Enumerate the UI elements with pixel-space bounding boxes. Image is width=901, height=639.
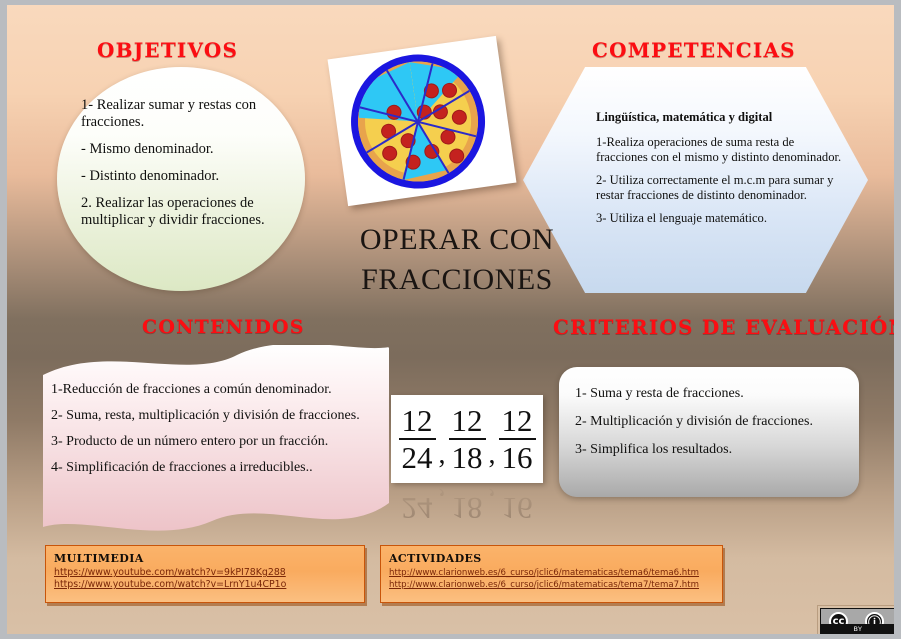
contenidos-line-2: 2- Suma, resta, multiplicación y divisió… (51, 407, 381, 424)
contenidos-line-4: 4- Simplificación de fracciones a irredu… (51, 459, 381, 476)
contenidos-text-body: 1-Reducción de fracciones a común denomi… (51, 381, 381, 485)
criterios-line-3: 3- Simplifica los resultados. (575, 441, 847, 458)
fractions-image-reflection: 12 24 , 12 18 , 12 16 (391, 483, 543, 525)
multimedia-title: MULTIMEDIA (54, 552, 356, 565)
criterios-box-panel: 1- Suma y resta de fracciones. 2- Multip… (559, 367, 859, 497)
actividades-link-2[interactable]: http://www.clarionweb.es/6_curso/jclic6/… (389, 579, 714, 591)
actividades-box: ACTIVIDADES http://www.clarionweb.es/6_c… (380, 545, 723, 603)
objetivos-line-1: 1- Realizar sumar y restas con fraccione… (81, 97, 267, 131)
fraction-separator: , (486, 439, 499, 473)
fraction-separator: , (436, 439, 449, 473)
contenidos-wave-panel: 1-Reducción de fracciones a común denomi… (37, 345, 392, 532)
fraction-3: 12 16 (499, 405, 536, 473)
contenidos-line-1: 1-Reducción de fracciones a común denomi… (51, 381, 381, 398)
fractions-row: 12 24 , 12 18 , 12 16 (399, 405, 536, 473)
cc-badge-inner: cc ⓘ BY (820, 608, 896, 634)
fraction-1-numerator: 12 (399, 405, 436, 436)
reflection-1-den: 24 (399, 493, 436, 525)
main-title-line-1: OPERAR CON (337, 220, 577, 260)
objetivos-line-3: - Distinto denominador. (81, 168, 267, 185)
fraction-1-denominator: 24 (399, 438, 436, 473)
fractions-image: 12 24 , 12 18 , 12 16 (391, 395, 543, 483)
pizza-inner (350, 54, 486, 190)
pizza-icon (342, 46, 493, 197)
heading-contenidos: CONTENIDOS (142, 316, 305, 338)
reflection-2-den: 18 (449, 493, 486, 525)
fraction-1: 12 24 (399, 405, 436, 473)
cc-by-label: BY (821, 624, 895, 633)
heading-objetivos: OBJETIVOS (97, 38, 238, 62)
actividades-link-1[interactable]: http://www.clarionweb.es/6_curso/jclic6/… (389, 567, 714, 579)
heading-criterios-evaluacion: CRITERIOS DE EVALUACIÓN (553, 315, 901, 339)
heading-competencias: COMPETENCIAS (592, 38, 796, 62)
objetivos-text-body: 1- Realizar sumar y restas con fraccione… (81, 97, 267, 239)
fraction-2-numerator: 12 (449, 405, 486, 436)
main-title-line-2: FRACCIONES (337, 260, 577, 300)
objetivos-circle-panel: 1- Realizar sumar y restas con fraccione… (57, 67, 305, 291)
criterios-line-1: 1- Suma y resta de fracciones. (575, 385, 847, 402)
reflection-fraction-1: 12 24 (399, 493, 436, 525)
competencias-text-body: Lingüística, matemática y digital 1-Real… (596, 110, 846, 234)
multimedia-box: MULTIMEDIA https://www.youtube.com/watch… (45, 545, 365, 603)
criterios-line-2: 2- Multiplicación y división de fraccion… (575, 413, 847, 430)
fraction-2-denominator: 18 (449, 438, 486, 473)
creative-commons-badge[interactable]: cc ⓘ BY (817, 605, 899, 637)
contenidos-line-3: 3- Producto de un número entero por un f… (51, 433, 381, 450)
fraction-3-numerator: 12 (499, 405, 536, 436)
competencias-line-3: 3- Utiliza el lenguaje matemático. (596, 211, 846, 226)
multimedia-link-2[interactable]: https://www.youtube.com/watch?v=LrnY1u4C… (54, 579, 356, 591)
competencias-line-1: 1-Realiza operaciones de suma resta de f… (596, 135, 846, 165)
reflection-separator: , (486, 483, 499, 517)
reflection-fraction-2: 12 18 (449, 493, 486, 525)
objetivos-line-4: 2. Realizar las operaciones de multiplic… (81, 195, 267, 229)
pizza-image-card (328, 36, 517, 206)
multimedia-link-1[interactable]: https://www.youtube.com/watch?v=9kPI78Kg… (54, 567, 356, 579)
objetivos-line-2: - Mismo denominador. (81, 141, 267, 158)
criterios-text-body: 1- Suma y resta de fracciones. 2- Multip… (575, 385, 847, 469)
infographic-slide: OBJETIVOS 1- Realizar sumar y restas con… (0, 0, 901, 639)
fractions-reflection-inner: 12 24 , 12 18 , 12 16 (391, 483, 543, 525)
main-title: OPERAR CON FRACCIONES (337, 220, 577, 300)
fraction-3-denominator: 16 (499, 438, 536, 473)
reflection-separator: , (436, 483, 449, 517)
reflection-3-den: 16 (499, 493, 536, 525)
competencias-line-2: 2- Utiliza correctamente el m.c.m para s… (596, 173, 846, 203)
reflection-fraction-3: 12 16 (499, 493, 536, 525)
actividades-title: ACTIVIDADES (389, 552, 714, 565)
competencias-subtitle: Lingüística, matemática y digital (596, 110, 846, 125)
fraction-2: 12 18 (449, 405, 486, 473)
